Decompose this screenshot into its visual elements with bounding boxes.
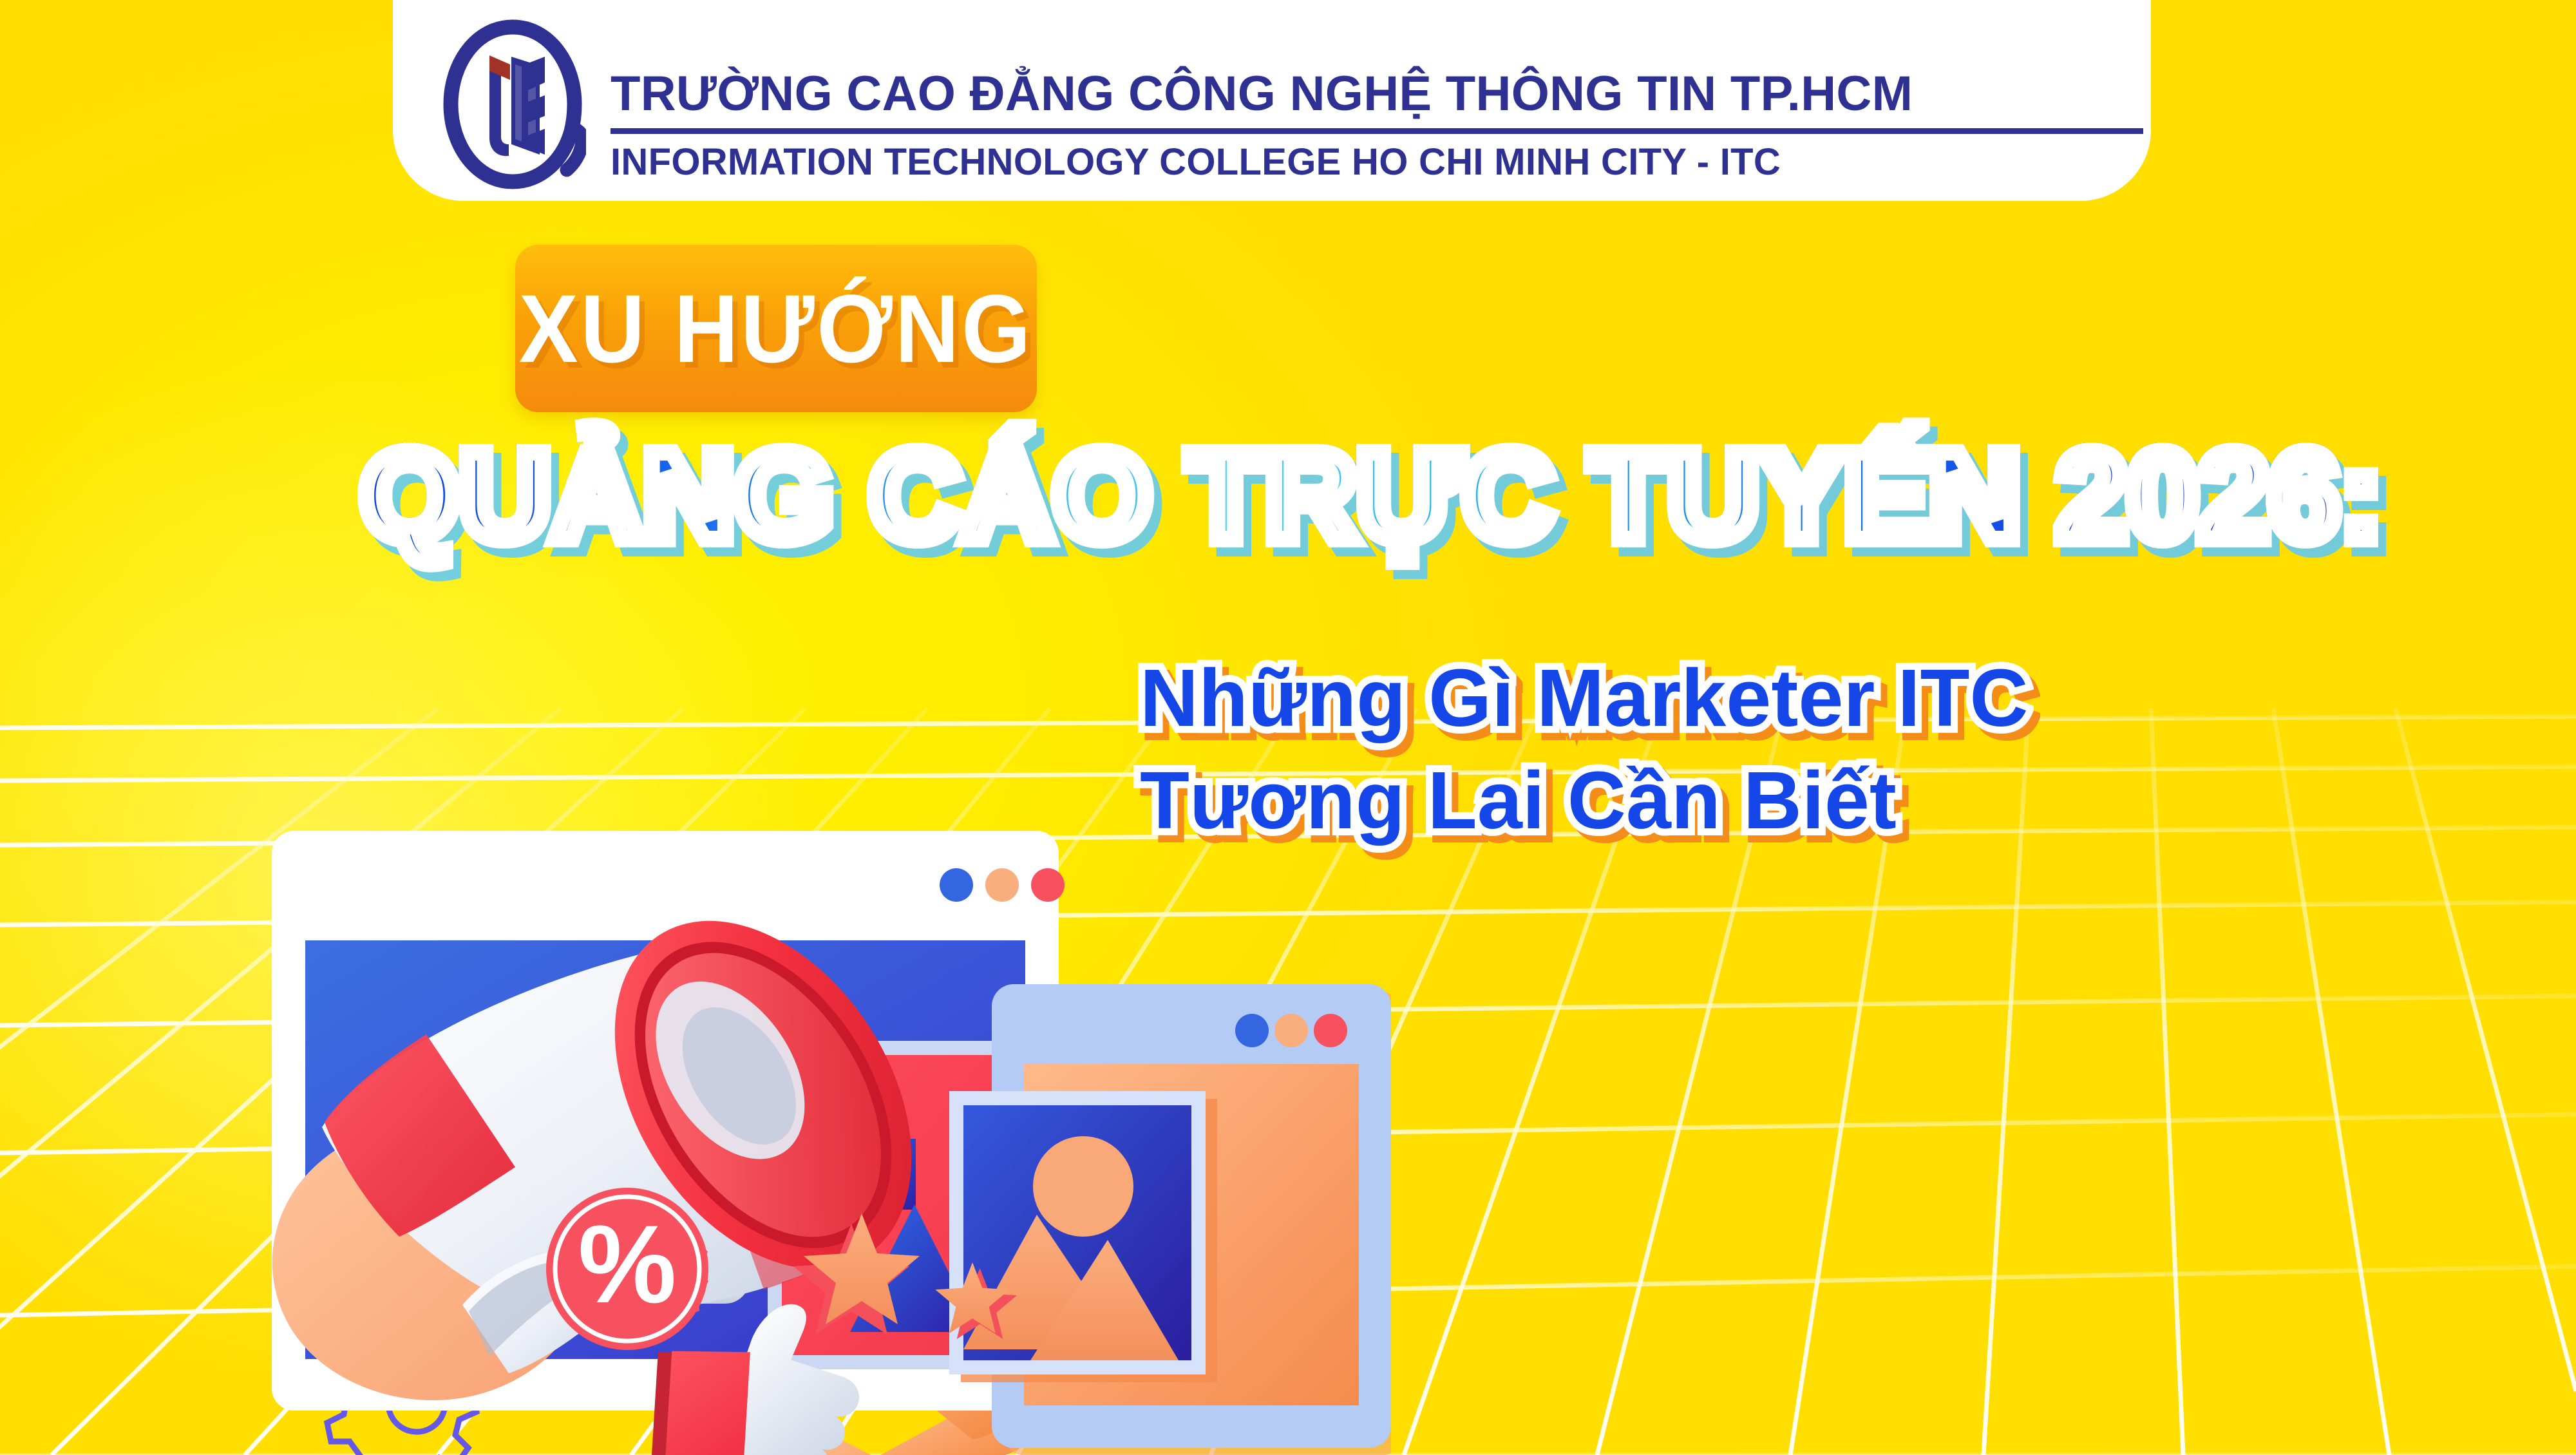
circle-shape: [1033, 1136, 1133, 1237]
poster-canvas: TRƯỜNG CAO ĐẲNG CÔNG NGHỆ THÔNG TIN TP.H…: [0, 0, 2576, 1455]
header-title-en: INFORMATION TECHNOLOGY COLLEGE HO CHI MI…: [611, 143, 2151, 182]
dot-red: [1031, 868, 1065, 902]
dot-orange: [985, 868, 1019, 902]
trend-badge-label: XU HƯỚNG: [519, 280, 1033, 377]
main-title-text: QUẢNG CÁO TRỰC TUYẾN 2026:: [361, 433, 2383, 559]
dot-blue: [940, 868, 973, 902]
header-text-block: TRƯỜNG CAO ĐẲNG CÔNG NGHỆ THÔNG TIN TP.H…: [611, 68, 2151, 201]
dot-red: [1314, 1014, 1347, 1047]
dot-blue: [1235, 1014, 1269, 1047]
image-card[interactable]: [949, 1091, 1217, 1382]
institution-header: TRƯỜNG CAO ĐẲNG CÔNG NGHỆ THÔNG TIN TP.H…: [393, 0, 2151, 201]
percent-symbol: %: [578, 1203, 677, 1326]
header-divider: [611, 128, 2143, 134]
trend-badge: XU HƯỚNG: [515, 245, 1037, 412]
itc-logo: [439, 18, 586, 191]
main-title: QUẢNG CÁO TRỰC TUYẾN 2026:: [361, 406, 2228, 586]
marketing-illustration: %: [64, 605, 1391, 1455]
browser-window-secondary[interactable]: [949, 984, 1391, 1455]
dot-orange: [1274, 1014, 1308, 1047]
percent-badge: %: [546, 1188, 708, 1350]
header-title-vi: TRƯỜNG CAO ĐẲNG CÔNG NGHỆ THÔNG TIN TP.H…: [611, 68, 2151, 119]
